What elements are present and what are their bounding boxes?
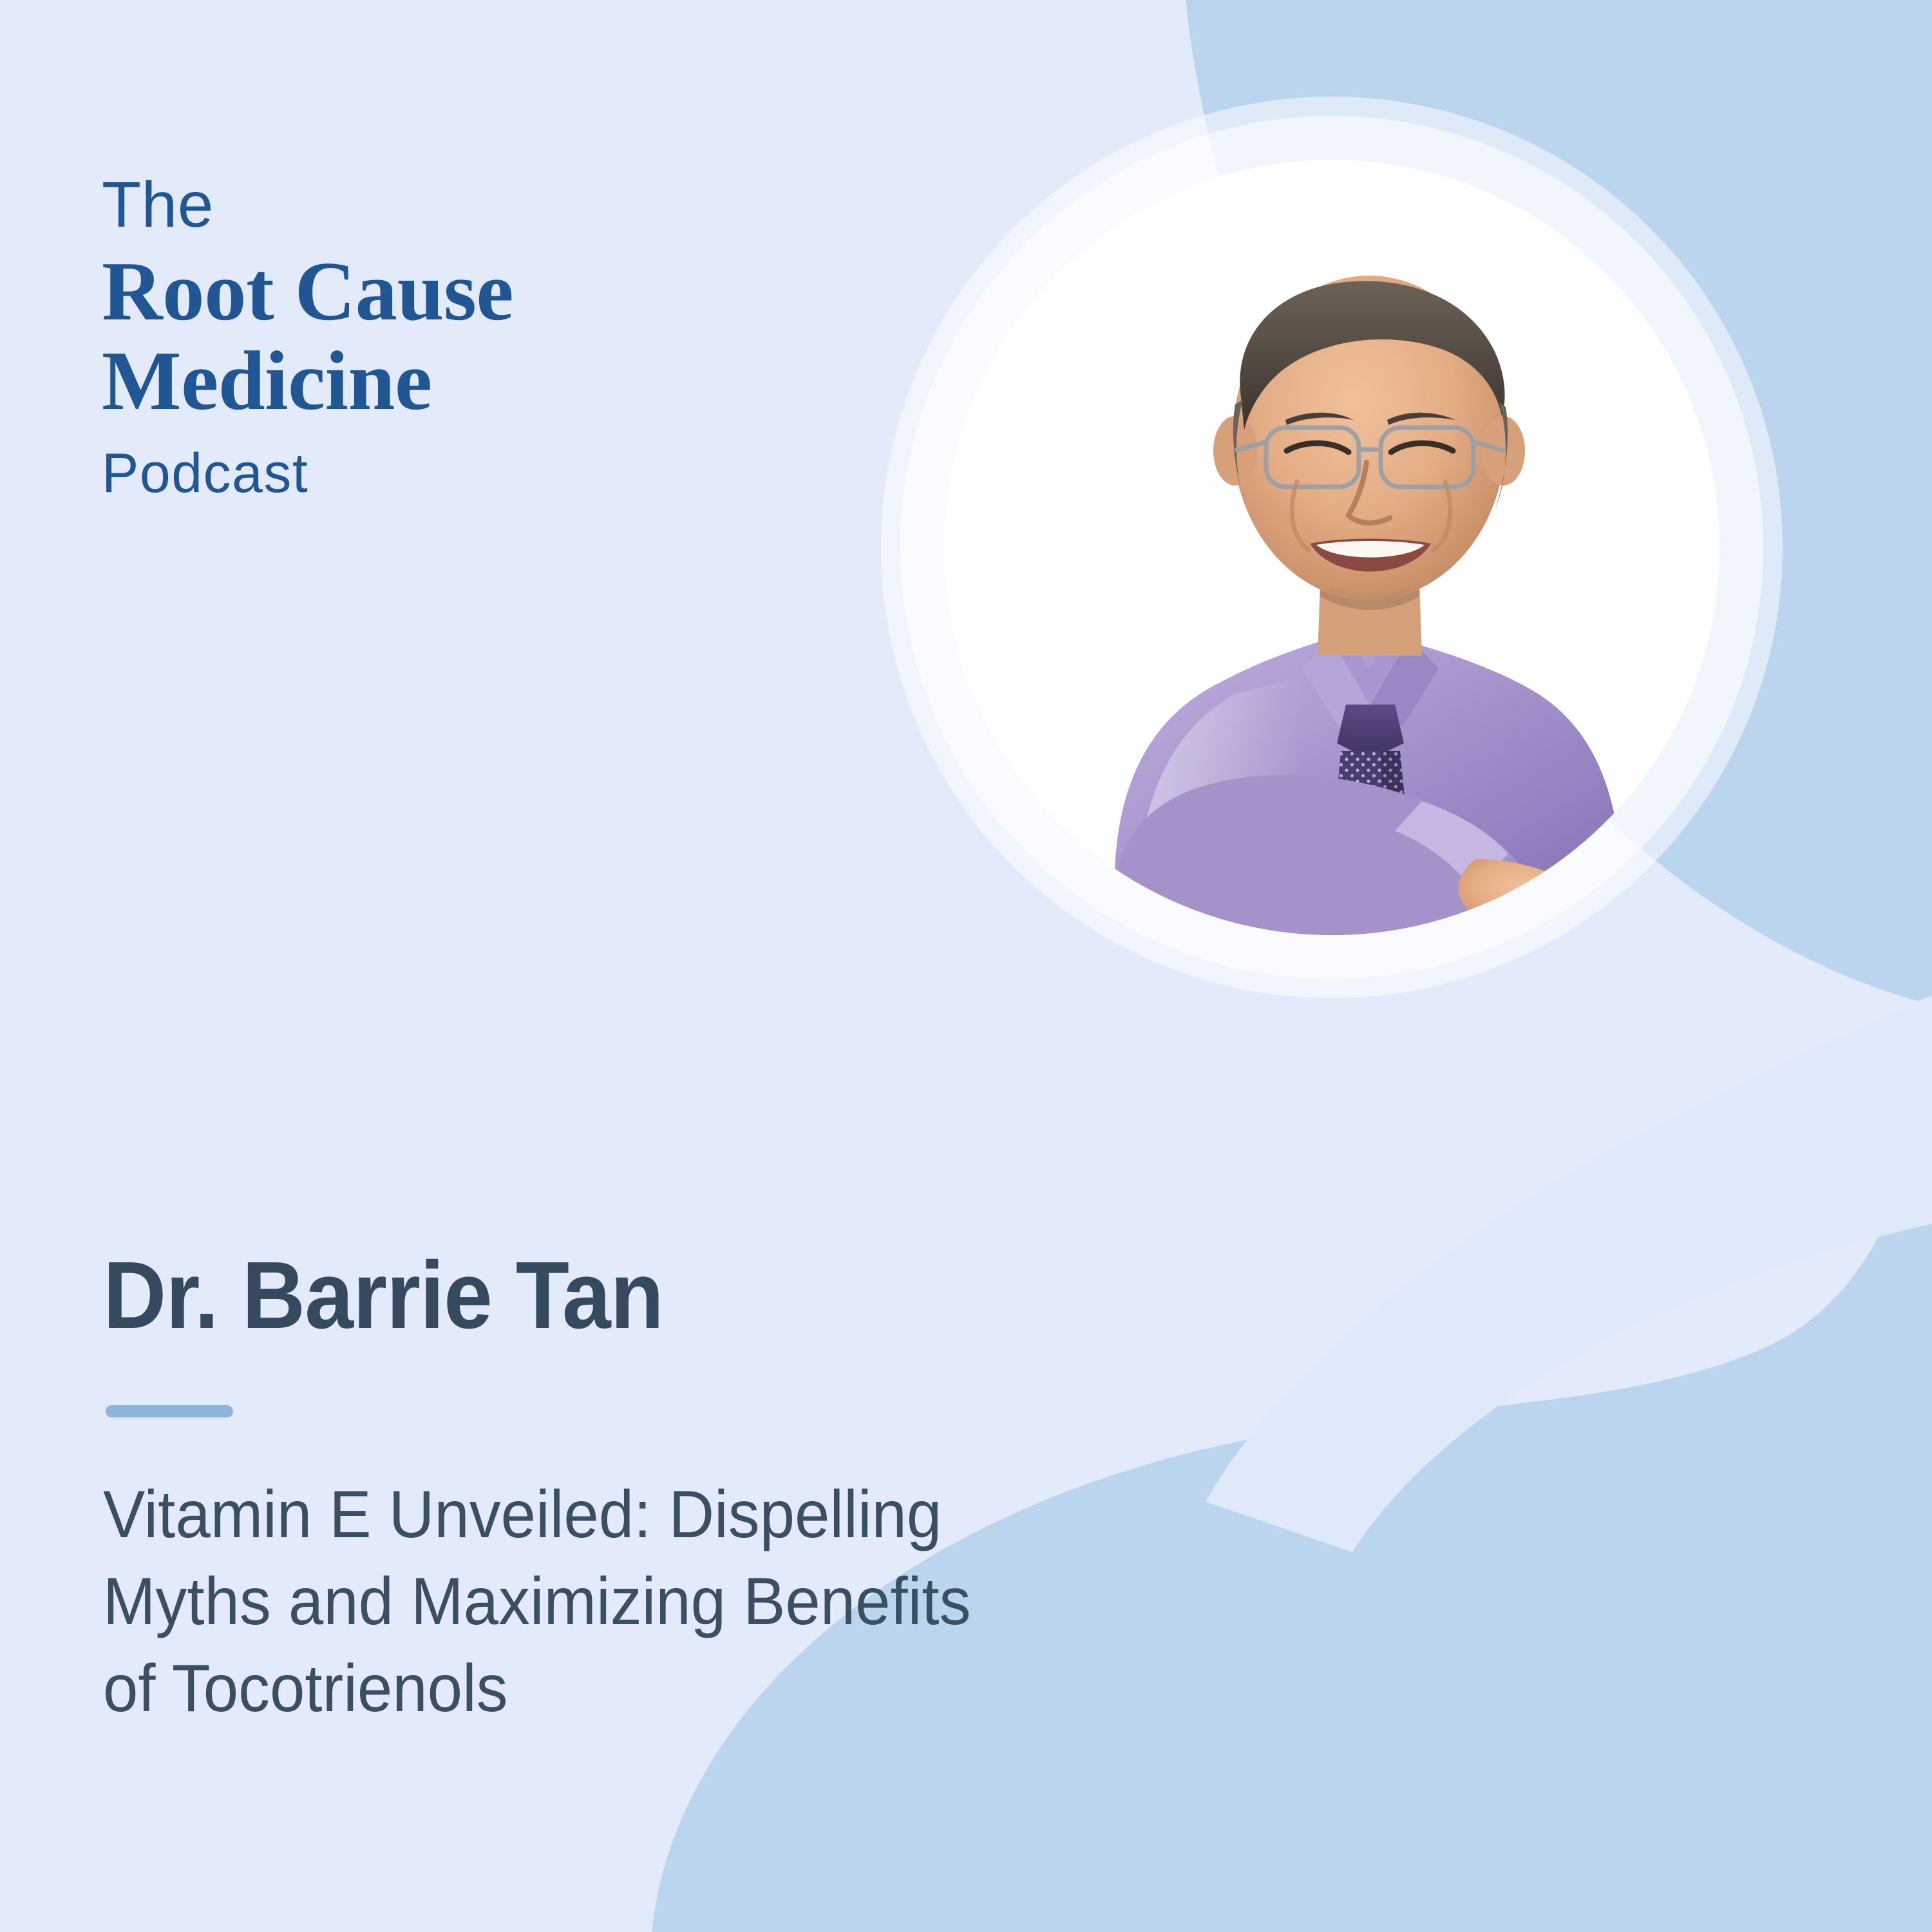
title-divider	[106, 1405, 233, 1417]
episode-title-line-3: of Tocotrienols	[103, 1645, 1241, 1732]
logo-line-root-cause: Root Cause	[102, 247, 842, 337]
portrait-disc	[944, 160, 1719, 935]
guest-portrait	[944, 160, 1719, 935]
logo-line-medicine: Medicine	[102, 337, 842, 426]
logo-line-podcast: Podcast	[102, 446, 842, 501]
podcast-logo: The Root Cause Medicine Podcast	[102, 173, 842, 501]
guest-portrait-container	[900, 116, 1763, 979]
logo-line-the: The	[102, 173, 842, 237]
episode-title: Vitamin E Unveiled: Dispelling Myths and…	[103, 1472, 1241, 1733]
episode-title-line-1: Vitamin E Unveiled: Dispelling	[103, 1472, 1241, 1558]
podcast-cover-artwork: The Root Cause Medicine Podcast	[0, 0, 1932, 1932]
episode-title-line-2: Myths and Maximizing Benefits	[103, 1558, 1241, 1645]
guest-name: Dr. Barrie Tan	[103, 1248, 1318, 1343]
episode-text-block: Dr. Barrie Tan Vitamin E Unveiled: Dispe…	[103, 1248, 1423, 1733]
